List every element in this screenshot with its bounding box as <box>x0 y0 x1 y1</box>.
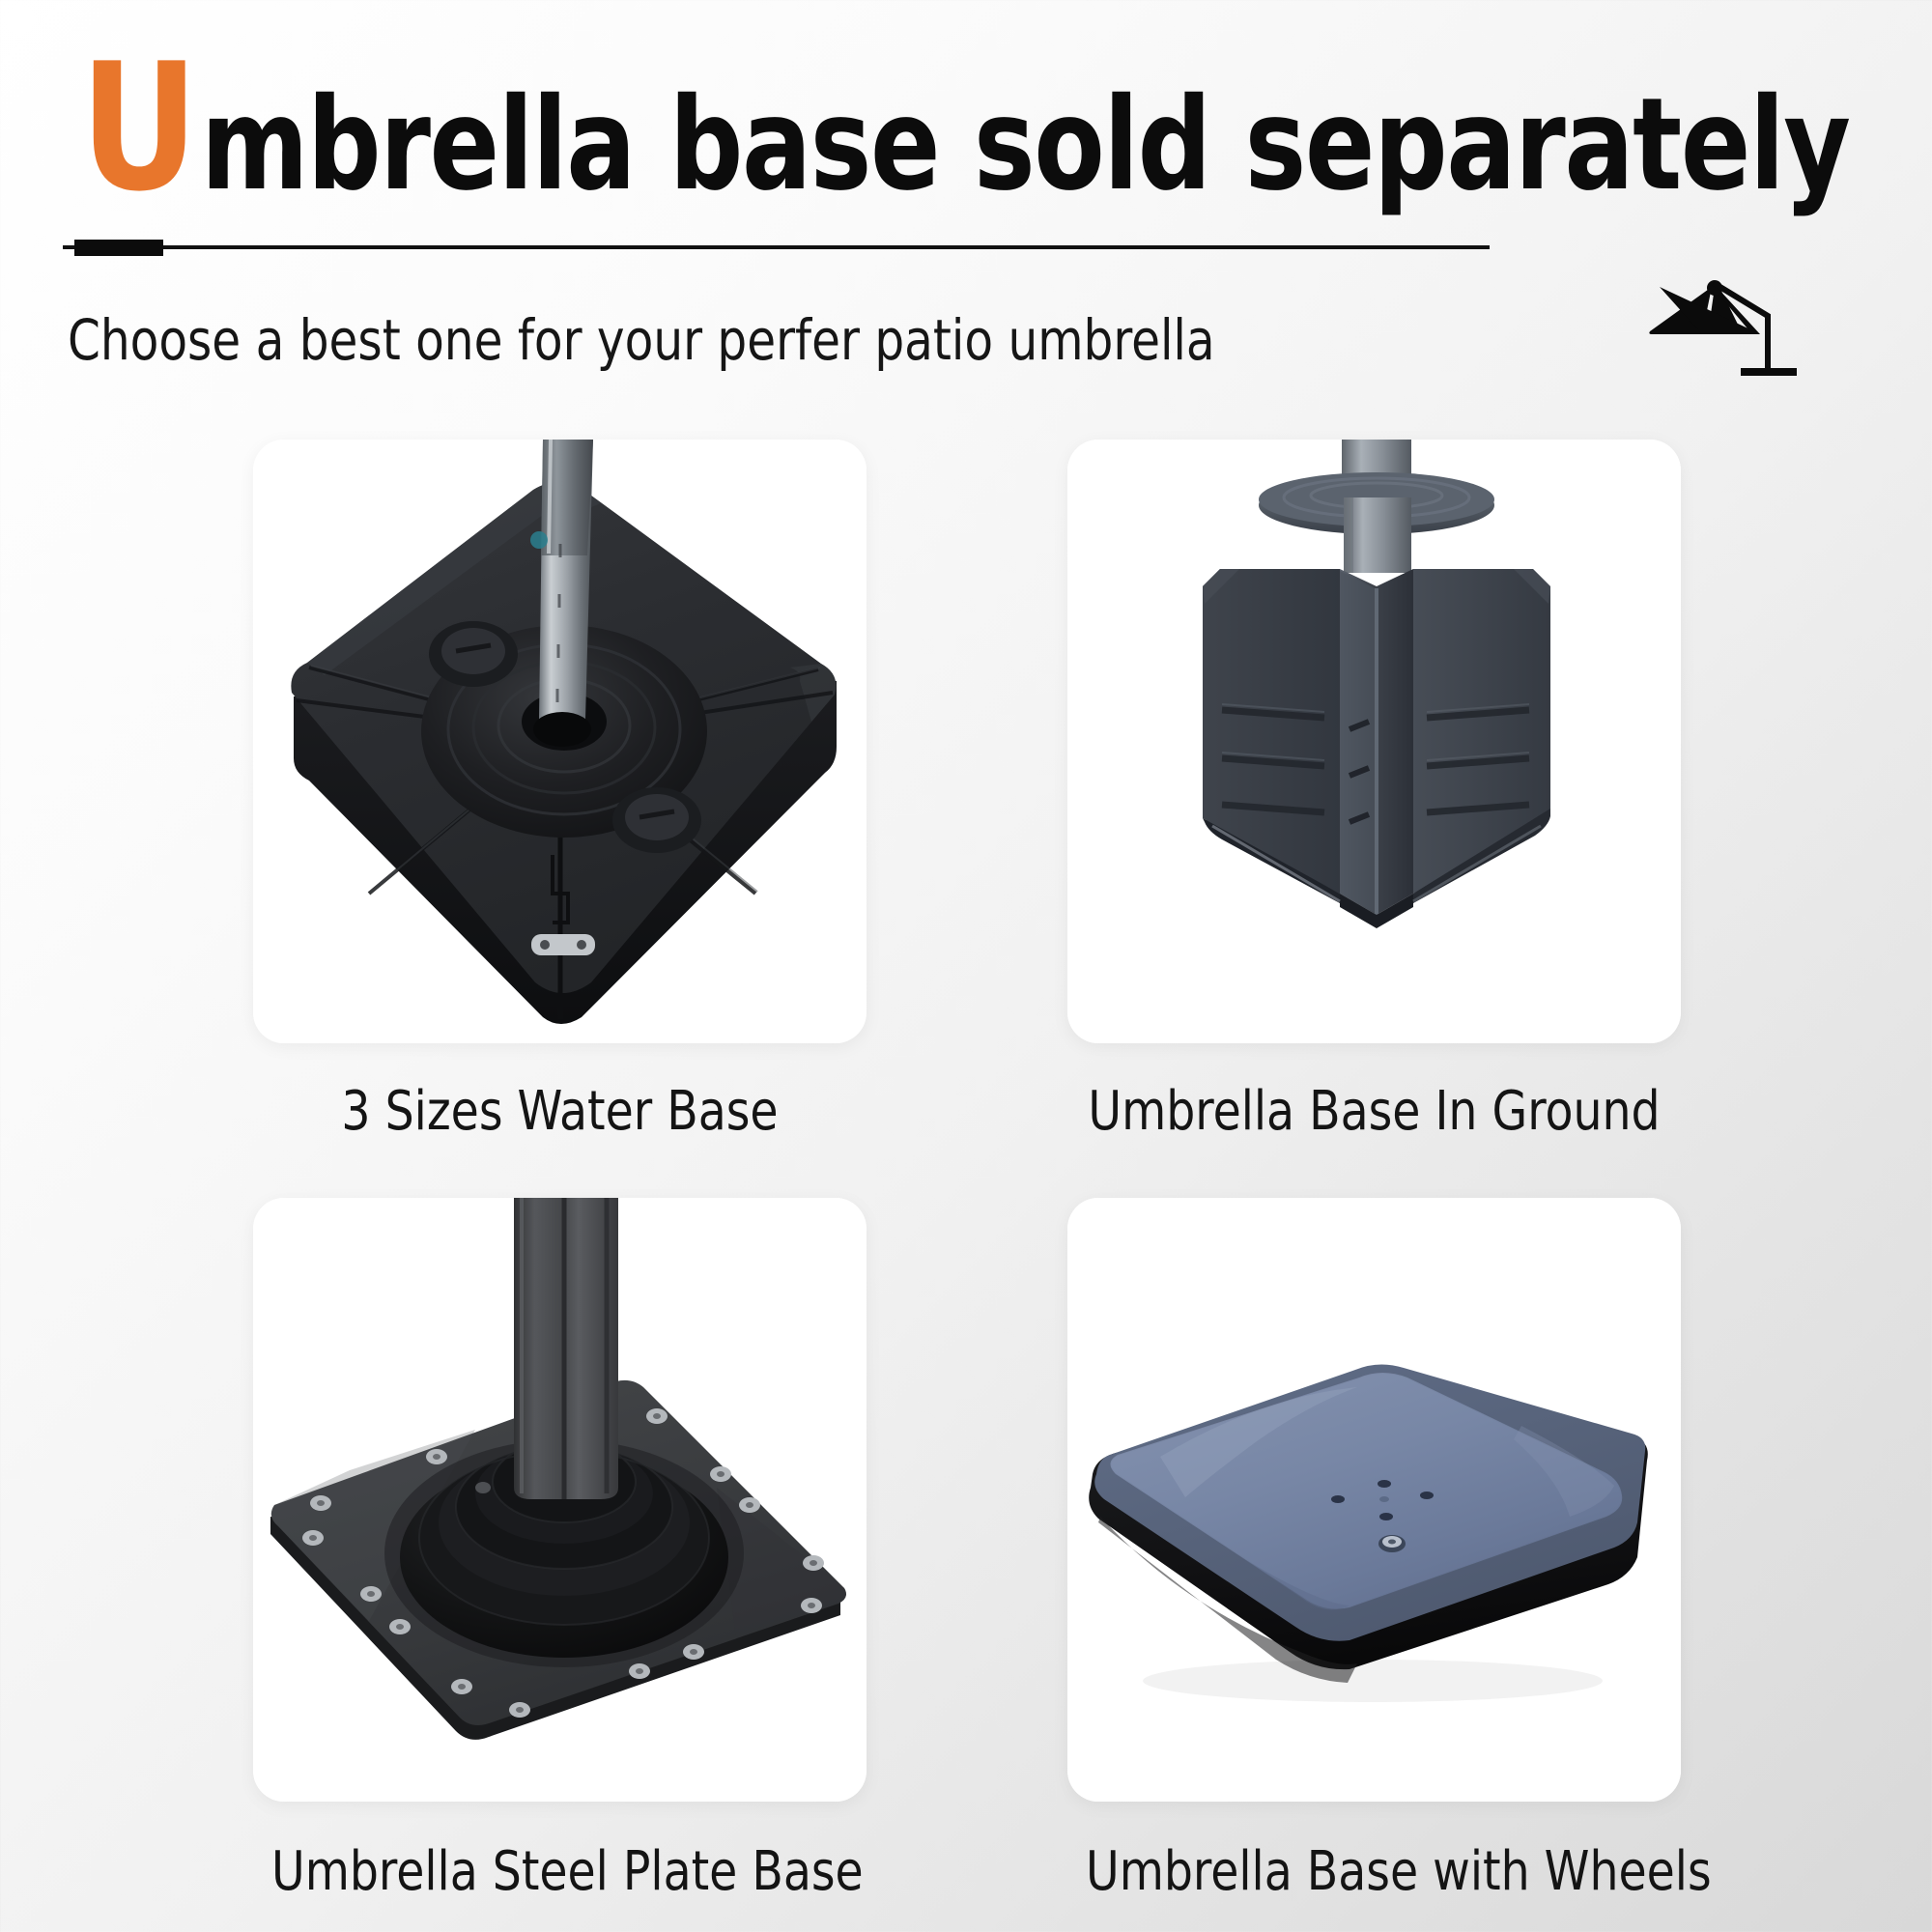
product-photo-steel-plate <box>253 1198 867 1802</box>
product-grid: 3 Sizes Water Base <box>0 425 1932 1932</box>
divider-accent-bar <box>74 240 163 256</box>
page-subtitle: Choose a best one for your perfer patio … <box>68 307 1215 373</box>
product-label: Umbrella Base with Wheels <box>1086 1840 1662 1903</box>
cantilever-umbrella-icon <box>1642 275 1835 382</box>
header-divider <box>63 240 1879 255</box>
product-card-steel-plate[interactable]: Umbrella Steel Plate Base <box>253 1198 1094 1903</box>
product-label: Umbrella Base In Ground <box>1086 1080 1662 1143</box>
product-card-in-ground[interactable]: Umbrella Base In Ground <box>1067 440 1908 1143</box>
page-title: U mbrella base sold separately <box>80 60 1932 197</box>
header: U mbrella base sold separately Choose a … <box>0 0 1932 406</box>
product-label: 3 Sizes Water Base <box>271 1080 848 1143</box>
title-text: mbrella base sold separately <box>201 96 1850 195</box>
product-card-with-wheels[interactable]: Umbrella Base with Wheels <box>1067 1198 1908 1903</box>
product-photo-in-ground <box>1067 440 1681 1043</box>
product-photo-water-base <box>253 440 867 1043</box>
product-label: Umbrella Steel Plate Base <box>271 1840 848 1903</box>
title-dropcap: U <box>80 60 196 197</box>
divider-line <box>63 245 1490 249</box>
product-photo-with-wheels <box>1067 1198 1681 1802</box>
product-card-water-base[interactable]: 3 Sizes Water Base <box>253 440 1094 1143</box>
